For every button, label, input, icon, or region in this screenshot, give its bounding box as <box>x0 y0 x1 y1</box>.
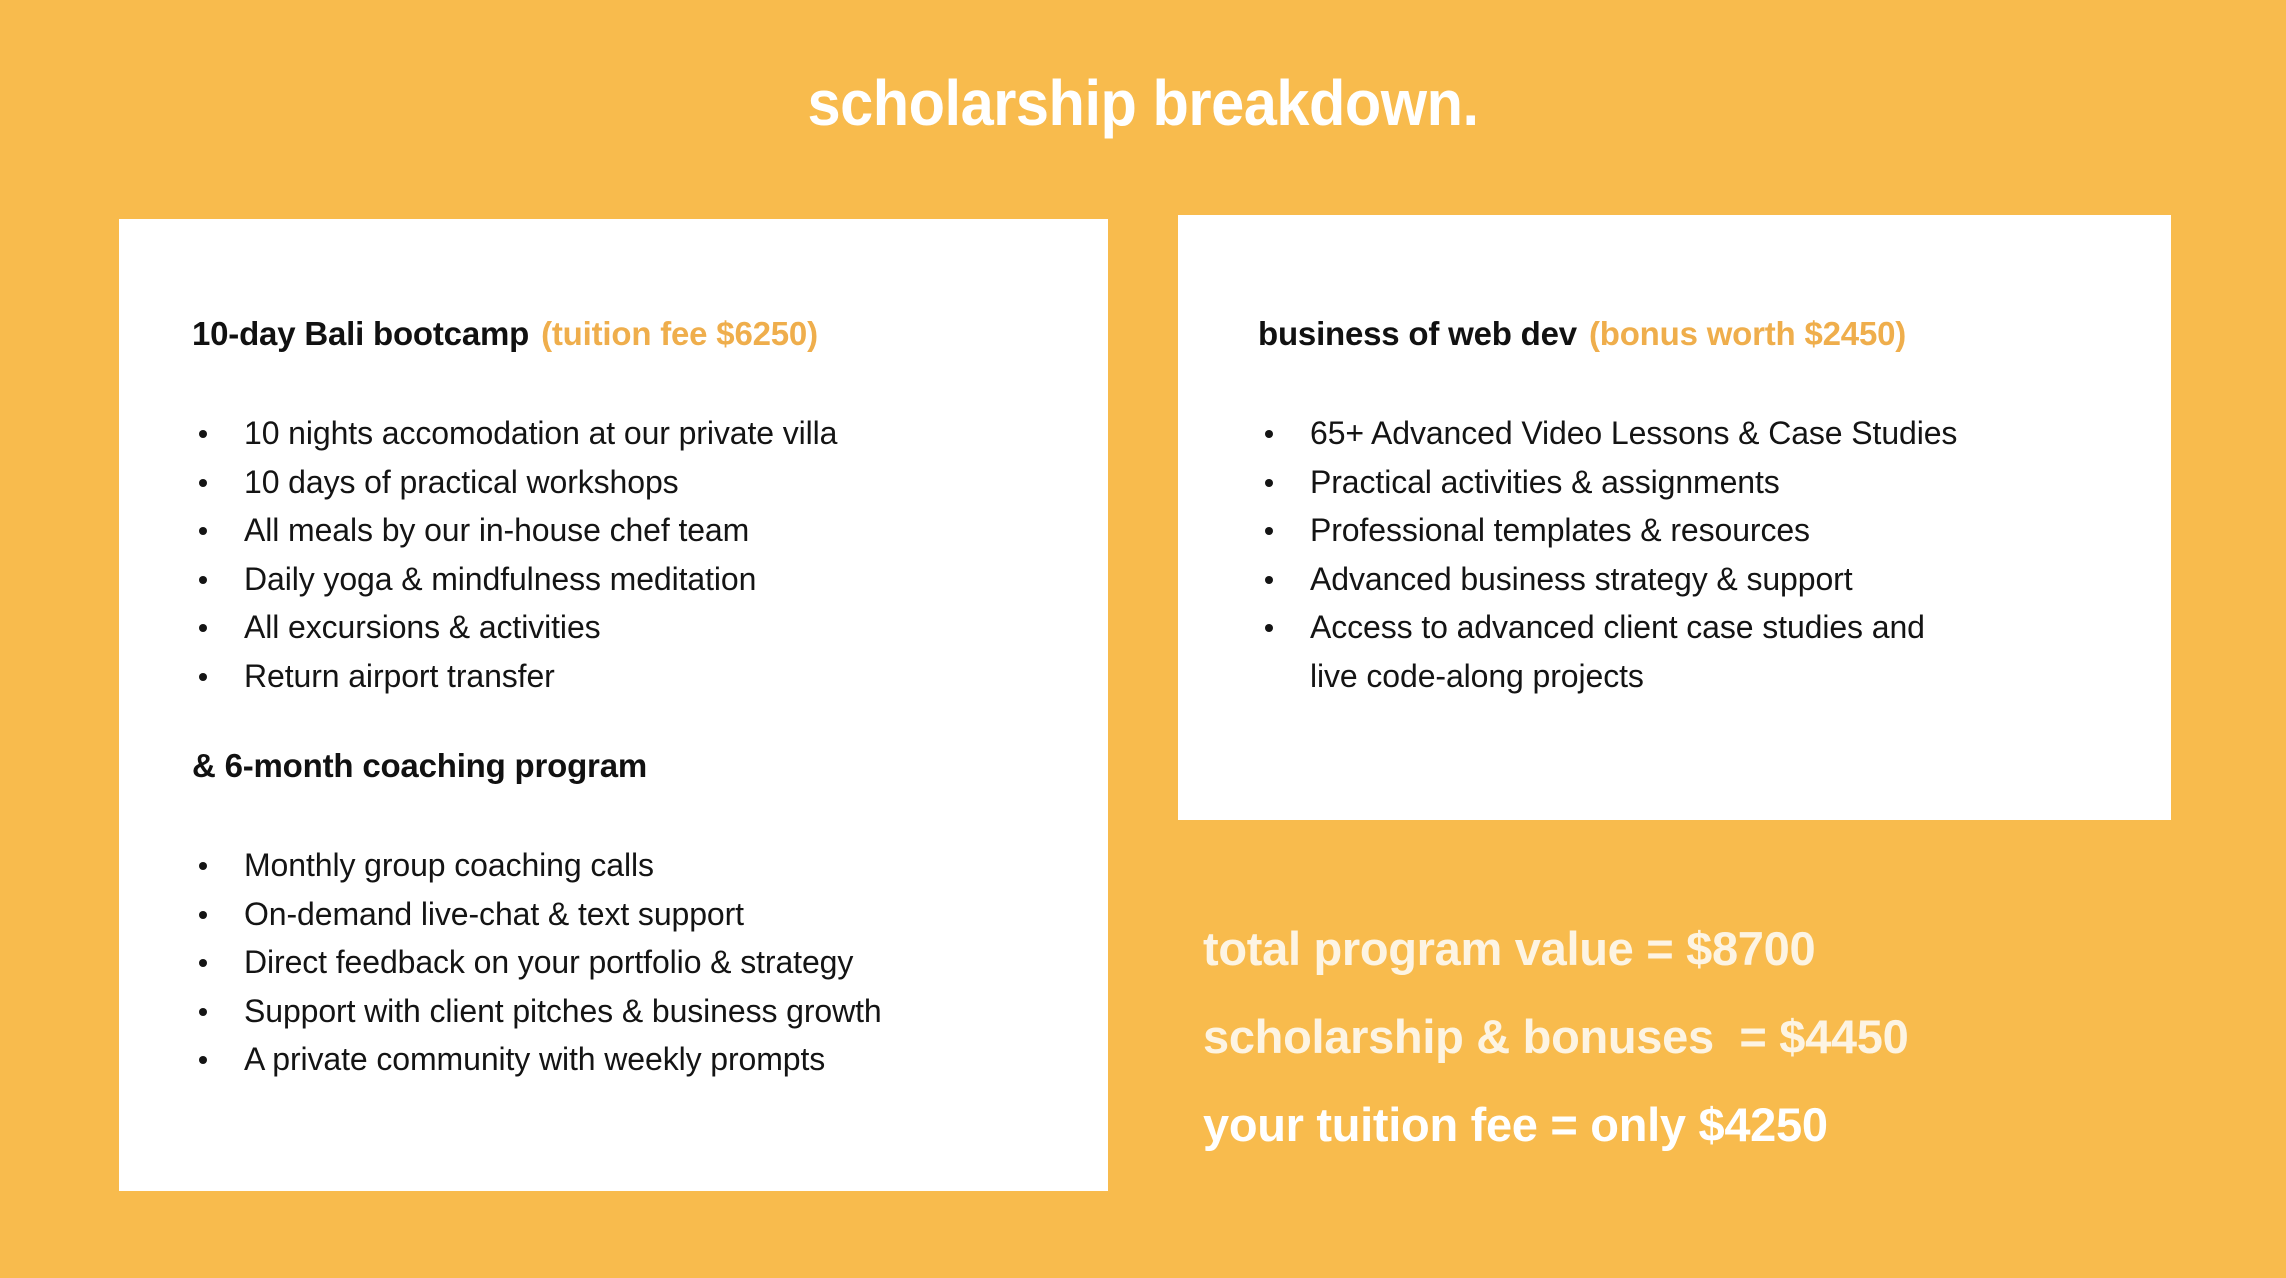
list-item: All excursions & activities <box>192 603 1012 652</box>
list-item: 10 days of practical workshops <box>192 458 1012 507</box>
page-title: scholarship breakdown. <box>80 70 2206 137</box>
web-dev-heading-title: business of web dev <box>1258 315 1577 352</box>
coaching-heading: & 6-month coaching program <box>192 747 647 785</box>
bootcamp-feature-list: 10 nights accomodation at our private vi… <box>192 409 1012 700</box>
list-item: On-demand live-chat & text support <box>192 890 1012 939</box>
total-program-value-line: total program value = $8700 <box>1203 905 2203 993</box>
your-tuition-fee-line: your tuition fee = only $4250 <box>1203 1081 2203 1169</box>
list-item: 10 nights accomodation at our private vi… <box>192 409 1012 458</box>
web-dev-bonus-note: (bonus worth $2450) <box>1589 315 1906 352</box>
list-item: Practical activities & assignments <box>1258 458 2098 507</box>
web-dev-feature-list: 65+ Advanced Video Lessons & Case Studie… <box>1258 409 2098 700</box>
list-item: All meals by our in-house chef team <box>192 506 1012 555</box>
scholarship-and-bonuses-line: scholarship & bonuses = $4450 <box>1203 993 2203 1081</box>
totals-summary: total program value = $8700 scholarship … <box>1203 905 2203 1169</box>
list-item: Monthly group coaching calls <box>192 841 1012 890</box>
bootcamp-tuition-fee-note: (tuition fee $6250) <box>541 315 818 352</box>
coaching-feature-list: Monthly group coaching calls On-demand l… <box>192 841 1012 1084</box>
list-item: Access to advanced client case studies a… <box>1258 603 2098 700</box>
list-item: Professional templates & resources <box>1258 506 2098 555</box>
list-item: 65+ Advanced Video Lessons & Case Studie… <box>1258 409 2098 458</box>
list-item: A private community with weekly prompts <box>192 1035 1012 1084</box>
web-dev-heading: business of web dev(bonus worth $2450) <box>1258 315 1906 353</box>
bootcamp-heading-title: 10-day Bali bootcamp <box>192 315 529 352</box>
list-item: Daily yoga & mindfulness meditation <box>192 555 1012 604</box>
bootcamp-heading: 10-day Bali bootcamp(tuition fee $6250) <box>192 315 818 353</box>
list-item: Advanced business strategy & support <box>1258 555 2098 604</box>
list-item: Return airport transfer <box>192 652 1012 701</box>
scholarship-breakdown-slide: scholarship breakdown. 10-day Bali bootc… <box>0 0 2286 1278</box>
list-item: Direct feedback on your portfolio & stra… <box>192 938 1012 987</box>
list-item: Support with client pitches & business g… <box>192 987 1012 1036</box>
